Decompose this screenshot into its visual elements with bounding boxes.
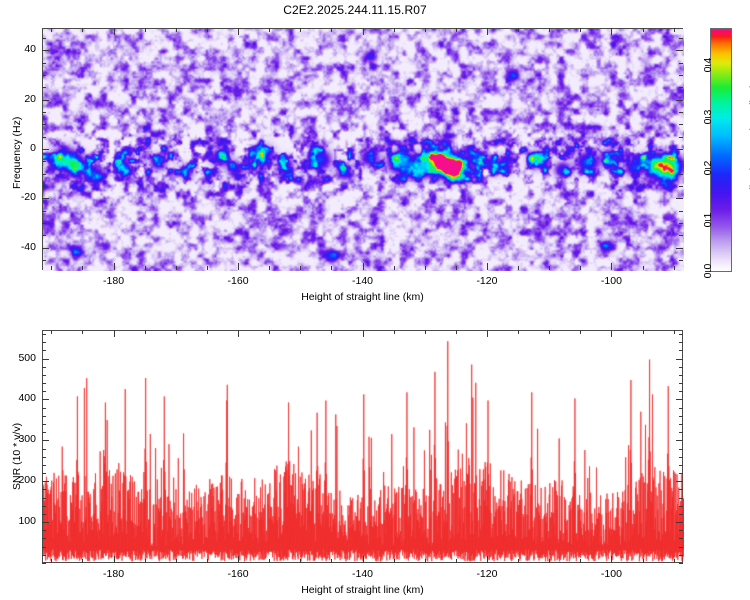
spectrogram-xtick xyxy=(82,28,83,32)
spectrogram-ytick xyxy=(42,223,46,224)
colorbar-tick-label: 0.2 xyxy=(702,153,714,183)
spectrogram-ytick xyxy=(42,100,49,101)
snr-xtick xyxy=(643,330,644,334)
snr-ytick xyxy=(679,514,683,515)
snr-ytick xyxy=(679,342,683,343)
snr-xtick-label: -160 xyxy=(213,568,263,581)
snr-xtick xyxy=(456,559,457,563)
snr-ytick xyxy=(42,489,46,490)
snr-ytick xyxy=(679,563,683,564)
spectrogram-ytick xyxy=(679,211,683,212)
spectrogram-xtick xyxy=(643,266,644,270)
snr-ytick xyxy=(679,449,683,450)
snr-ytick xyxy=(42,391,46,392)
snr-xtick xyxy=(456,330,457,334)
spectrogram-ytick xyxy=(679,186,683,187)
spectrogram-xtick xyxy=(114,263,115,270)
snr-ytick xyxy=(679,432,683,433)
snr-xtick xyxy=(207,559,208,563)
spectrogram-xtick xyxy=(643,28,644,32)
spectrogram-ytick xyxy=(42,124,46,125)
spectrogram-xtick-label: -120 xyxy=(462,275,512,288)
snr-ytick xyxy=(42,481,49,482)
snr-xtick-label: -140 xyxy=(338,568,388,581)
snr-xtick xyxy=(114,330,115,337)
spectrogram-ytick-label: -20 xyxy=(2,191,36,204)
spectrogram-xtick xyxy=(145,28,146,32)
spectrogram-xtick xyxy=(456,28,457,32)
spectrogram-ytick xyxy=(676,248,683,249)
snr-ytick xyxy=(679,350,683,351)
snr-ytick xyxy=(679,489,683,490)
snr-ytick xyxy=(42,538,46,539)
spectrogram-ytick xyxy=(42,112,46,113)
spectrogram-ytick xyxy=(42,198,49,199)
snr-xtick xyxy=(518,559,519,563)
spectrogram-ytick xyxy=(679,260,683,261)
colorbar-tick-label: 0.0 xyxy=(702,256,714,286)
snr-ytick xyxy=(679,334,683,335)
spectrogram-ytick xyxy=(42,149,49,150)
snr-ytick-label: 400 xyxy=(2,392,36,405)
snr-xtick-label: -120 xyxy=(462,568,512,581)
spectrogram-xtick xyxy=(176,28,177,32)
spectrogram-xtick xyxy=(580,266,581,270)
spectrogram-xtick xyxy=(580,28,581,32)
snr-xtick xyxy=(674,559,675,563)
snr-xtick xyxy=(549,330,550,334)
spectrogram-xtick xyxy=(425,28,426,32)
snr-xtick xyxy=(674,330,675,334)
snr-ytick xyxy=(679,530,683,531)
snr-ytick xyxy=(42,465,46,466)
snr-ytick xyxy=(679,473,683,474)
spectrogram-xtick-label: -140 xyxy=(338,275,388,288)
spectrogram-xtick xyxy=(145,266,146,270)
spectrogram-ytick xyxy=(42,161,46,162)
snr-xtick xyxy=(207,330,208,334)
spectrogram-xtick xyxy=(518,266,519,270)
spectrogram-xtick xyxy=(363,28,364,35)
spectrogram-xtick xyxy=(674,266,675,270)
snr-ytick xyxy=(676,522,683,523)
snr-xtick xyxy=(580,559,581,563)
spectrogram-xaxis-title: Height of straight line (km) xyxy=(285,291,441,303)
spectrogram-ytick xyxy=(679,112,683,113)
snr-ytick xyxy=(42,555,46,556)
colorbar-tick-label: 0.3 xyxy=(702,102,714,132)
spectrogram-xtick xyxy=(363,263,364,270)
snr-ytick xyxy=(679,555,683,556)
snr-xtick xyxy=(331,559,332,563)
snr-ytick xyxy=(42,530,46,531)
spectrogram-xtick xyxy=(238,263,239,270)
spectrogram-ytick xyxy=(42,50,49,51)
snr-ytick xyxy=(679,408,683,409)
snr-ytick xyxy=(42,416,46,417)
snr-ytick xyxy=(679,424,683,425)
snr-ytick xyxy=(676,440,683,441)
snr-ytick xyxy=(42,514,46,515)
spectrogram-ytick xyxy=(679,87,683,88)
snr-ytick xyxy=(679,416,683,417)
spectrogram-xtick xyxy=(487,263,488,270)
snr-ytick xyxy=(679,506,683,507)
snr-ytick xyxy=(679,383,683,384)
snr-ytick xyxy=(679,498,683,499)
snr-ytick xyxy=(676,481,683,482)
snr-ytick xyxy=(42,424,46,425)
snr-xtick xyxy=(269,330,270,334)
spectrogram-xtick xyxy=(51,266,52,270)
spectrogram-ytick-label: 20 xyxy=(2,93,36,106)
snr-xtick xyxy=(331,330,332,334)
snr-ytick-label: 500 xyxy=(2,352,36,365)
snr-xtick xyxy=(51,330,52,334)
snr-xtick xyxy=(145,559,146,563)
figure-root: C2E2.2025.244.11.15.R07 -180-160-140-120… xyxy=(0,0,750,600)
snr-xtick xyxy=(363,330,364,337)
spectrogram-ytick xyxy=(42,38,46,39)
snr-xtick xyxy=(643,559,644,563)
spectrogram-ytick xyxy=(679,235,683,236)
snr-ytick xyxy=(676,359,683,360)
snr-xtick xyxy=(611,556,612,563)
snr-ytick xyxy=(42,359,49,360)
snr-ytick xyxy=(42,449,46,450)
spectrogram-ytick xyxy=(676,198,683,199)
spectrogram-xtick xyxy=(269,266,270,270)
spectrogram-ytick xyxy=(679,223,683,224)
snr-ytick xyxy=(679,465,683,466)
spectrogram-xtick xyxy=(114,28,115,35)
spectrogram-xtick xyxy=(300,28,301,32)
snr-xtick xyxy=(82,559,83,563)
snr-ytick xyxy=(679,367,683,368)
snr-xtick-label: -100 xyxy=(586,568,636,581)
spectrogram-ytick xyxy=(679,137,683,138)
snr-ytick xyxy=(42,367,46,368)
snr-ytick xyxy=(679,375,683,376)
snr-ytick xyxy=(42,563,46,564)
spectrogram-xtick xyxy=(51,28,52,32)
snr-ytick xyxy=(42,522,49,523)
snr-xtick xyxy=(580,330,581,334)
spectrogram-xtick xyxy=(549,28,550,32)
spectrogram-ytick xyxy=(676,149,683,150)
spectrogram-xtick xyxy=(674,28,675,32)
snr-ytick xyxy=(42,350,46,351)
snr-ytick xyxy=(679,457,683,458)
spectrogram-ytick xyxy=(42,75,46,76)
snr-xtick xyxy=(145,330,146,334)
snr-xtick xyxy=(394,330,395,334)
spectrogram-xtick xyxy=(611,263,612,270)
spectrogram-ytick xyxy=(679,174,683,175)
snr-ytick xyxy=(42,408,46,409)
snr-ytick xyxy=(42,506,46,507)
snr-xtick-label: -180 xyxy=(89,568,139,581)
snr-ytick xyxy=(42,342,46,343)
spectrogram-xtick xyxy=(331,28,332,32)
snr-ytick xyxy=(679,547,683,548)
spectrogram-xtick xyxy=(518,28,519,32)
snr-ytick-label: 100 xyxy=(2,515,36,528)
snr-xtick xyxy=(425,559,426,563)
snr-ytick xyxy=(42,334,46,335)
spectrogram-xtick xyxy=(611,28,612,35)
spectrogram-xtick xyxy=(82,266,83,270)
snr-xtick xyxy=(238,330,239,337)
page-title: C2E2.2025.244.11.15.R07 xyxy=(0,3,710,17)
snr-ytick xyxy=(42,473,46,474)
snr-ytick xyxy=(42,440,49,441)
snr-xtick xyxy=(300,559,301,563)
spectrogram-ytick xyxy=(42,235,46,236)
snr-xtick xyxy=(487,556,488,563)
snr-ytick xyxy=(42,432,46,433)
snr-xtick xyxy=(549,559,550,563)
spectrogram-xtick xyxy=(331,266,332,270)
spectrogram-ytick xyxy=(679,75,683,76)
snr-ytick xyxy=(42,498,46,499)
snr-xtick xyxy=(300,330,301,334)
snr-xaxis-title: Height of straight line (km) xyxy=(285,584,441,596)
snr-xtick xyxy=(394,559,395,563)
snr-xtick xyxy=(269,559,270,563)
snr-yaxis-title: SNR (10 * v/v) xyxy=(11,422,23,489)
spectrogram-yaxis-title: Frequency (Hz) xyxy=(11,117,23,189)
snr-xtick xyxy=(487,330,488,337)
spectrogram-ytick xyxy=(42,137,46,138)
snr-xtick xyxy=(51,559,52,563)
spectrogram-xtick xyxy=(300,266,301,270)
spectrogram-xtick xyxy=(456,266,457,270)
snr-xtick xyxy=(611,330,612,337)
spectrogram-ytick xyxy=(679,124,683,125)
spectrogram-xtick xyxy=(394,266,395,270)
spectrogram-xtick xyxy=(207,28,208,32)
snr-ytick xyxy=(42,383,46,384)
snr-ytick xyxy=(42,399,49,400)
spectrogram-image xyxy=(43,29,684,271)
snr-ytick xyxy=(42,547,46,548)
spectrogram-ytick xyxy=(42,63,46,64)
spectrogram-xtick xyxy=(207,266,208,270)
spectrogram-ytick xyxy=(676,100,683,101)
spectrogram-ytick xyxy=(676,50,683,51)
snr-xtick xyxy=(176,559,177,563)
spectrogram-xtick-label: -160 xyxy=(213,275,263,288)
snr-xtick xyxy=(176,330,177,334)
spectrogram-xtick xyxy=(176,266,177,270)
snr-ytick xyxy=(42,457,46,458)
snr-xtick xyxy=(114,556,115,563)
snr-xtick xyxy=(82,330,83,334)
spectrogram-ytick xyxy=(679,38,683,39)
spectrogram-ytick xyxy=(42,211,46,212)
spectrogram-xtick xyxy=(549,266,550,270)
snr-xtick xyxy=(425,330,426,334)
spectrogram-ytick xyxy=(42,174,46,175)
snr-ytick xyxy=(42,375,46,376)
spectrogram-ytick xyxy=(42,186,46,187)
snr-trace xyxy=(43,331,684,564)
spectrogram-xtick xyxy=(269,28,270,32)
spectrogram-ytick xyxy=(42,87,46,88)
snr-xtick xyxy=(363,556,364,563)
spectrogram-ytick xyxy=(679,63,683,64)
spectrogram-ytick xyxy=(42,260,46,261)
spectrogram-xtick xyxy=(487,28,488,35)
spectrogram-ytick-label: 40 xyxy=(2,43,36,56)
snr-xtick xyxy=(518,330,519,334)
snr-ytick xyxy=(679,538,683,539)
spectrogram-ytick xyxy=(679,161,683,162)
spectrogram-xtick-label: -180 xyxy=(89,275,139,288)
spectrogram-ytick-label: -40 xyxy=(2,241,36,254)
snr-ytick xyxy=(676,399,683,400)
spectrogram-xtick xyxy=(394,28,395,32)
snr-ytick xyxy=(679,391,683,392)
spectrogram-xtick xyxy=(425,266,426,270)
spectrogram-xtick-label: -100 xyxy=(586,275,636,288)
spectrogram-ytick xyxy=(42,248,49,249)
colorbar-tick-label: 0.4 xyxy=(702,50,714,80)
snr-xtick xyxy=(238,556,239,563)
colorbar-tick-label: 0.1 xyxy=(702,205,714,235)
spectrogram-xtick xyxy=(238,28,239,35)
